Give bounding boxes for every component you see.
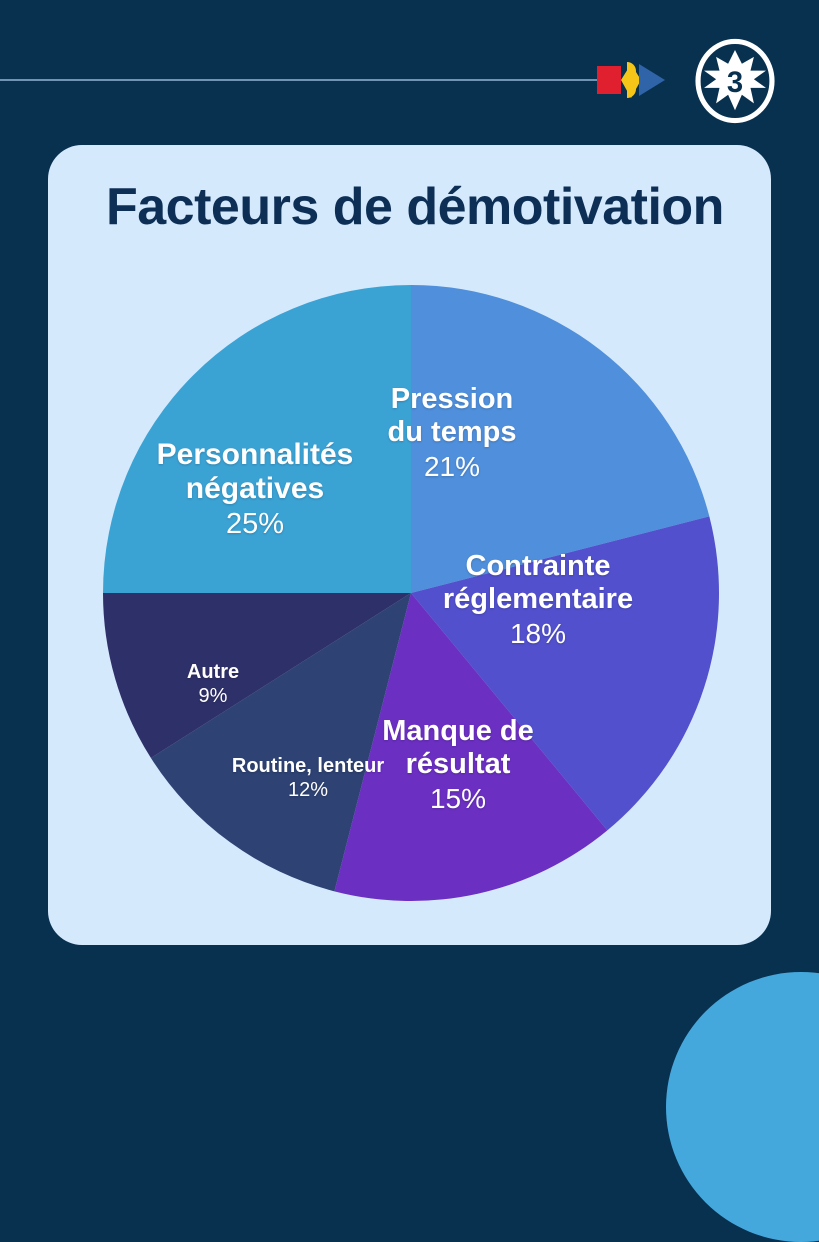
header: 3 bbox=[0, 0, 819, 140]
tricolor-arrow-mark-icon bbox=[597, 58, 665, 102]
pie-slice bbox=[103, 285, 411, 593]
pie-chart-svg bbox=[48, 145, 771, 945]
decorative-circle bbox=[666, 972, 819, 1242]
header-rule-divider bbox=[0, 79, 600, 81]
pie-chart: Personnalités négatives 25% Pression du … bbox=[48, 145, 771, 945]
badge-number: 3 bbox=[727, 67, 743, 99]
chart-card: Facteurs de démotivation Personnalités n… bbox=[48, 145, 771, 945]
starburst-three-badge-icon: 3 bbox=[692, 38, 778, 124]
